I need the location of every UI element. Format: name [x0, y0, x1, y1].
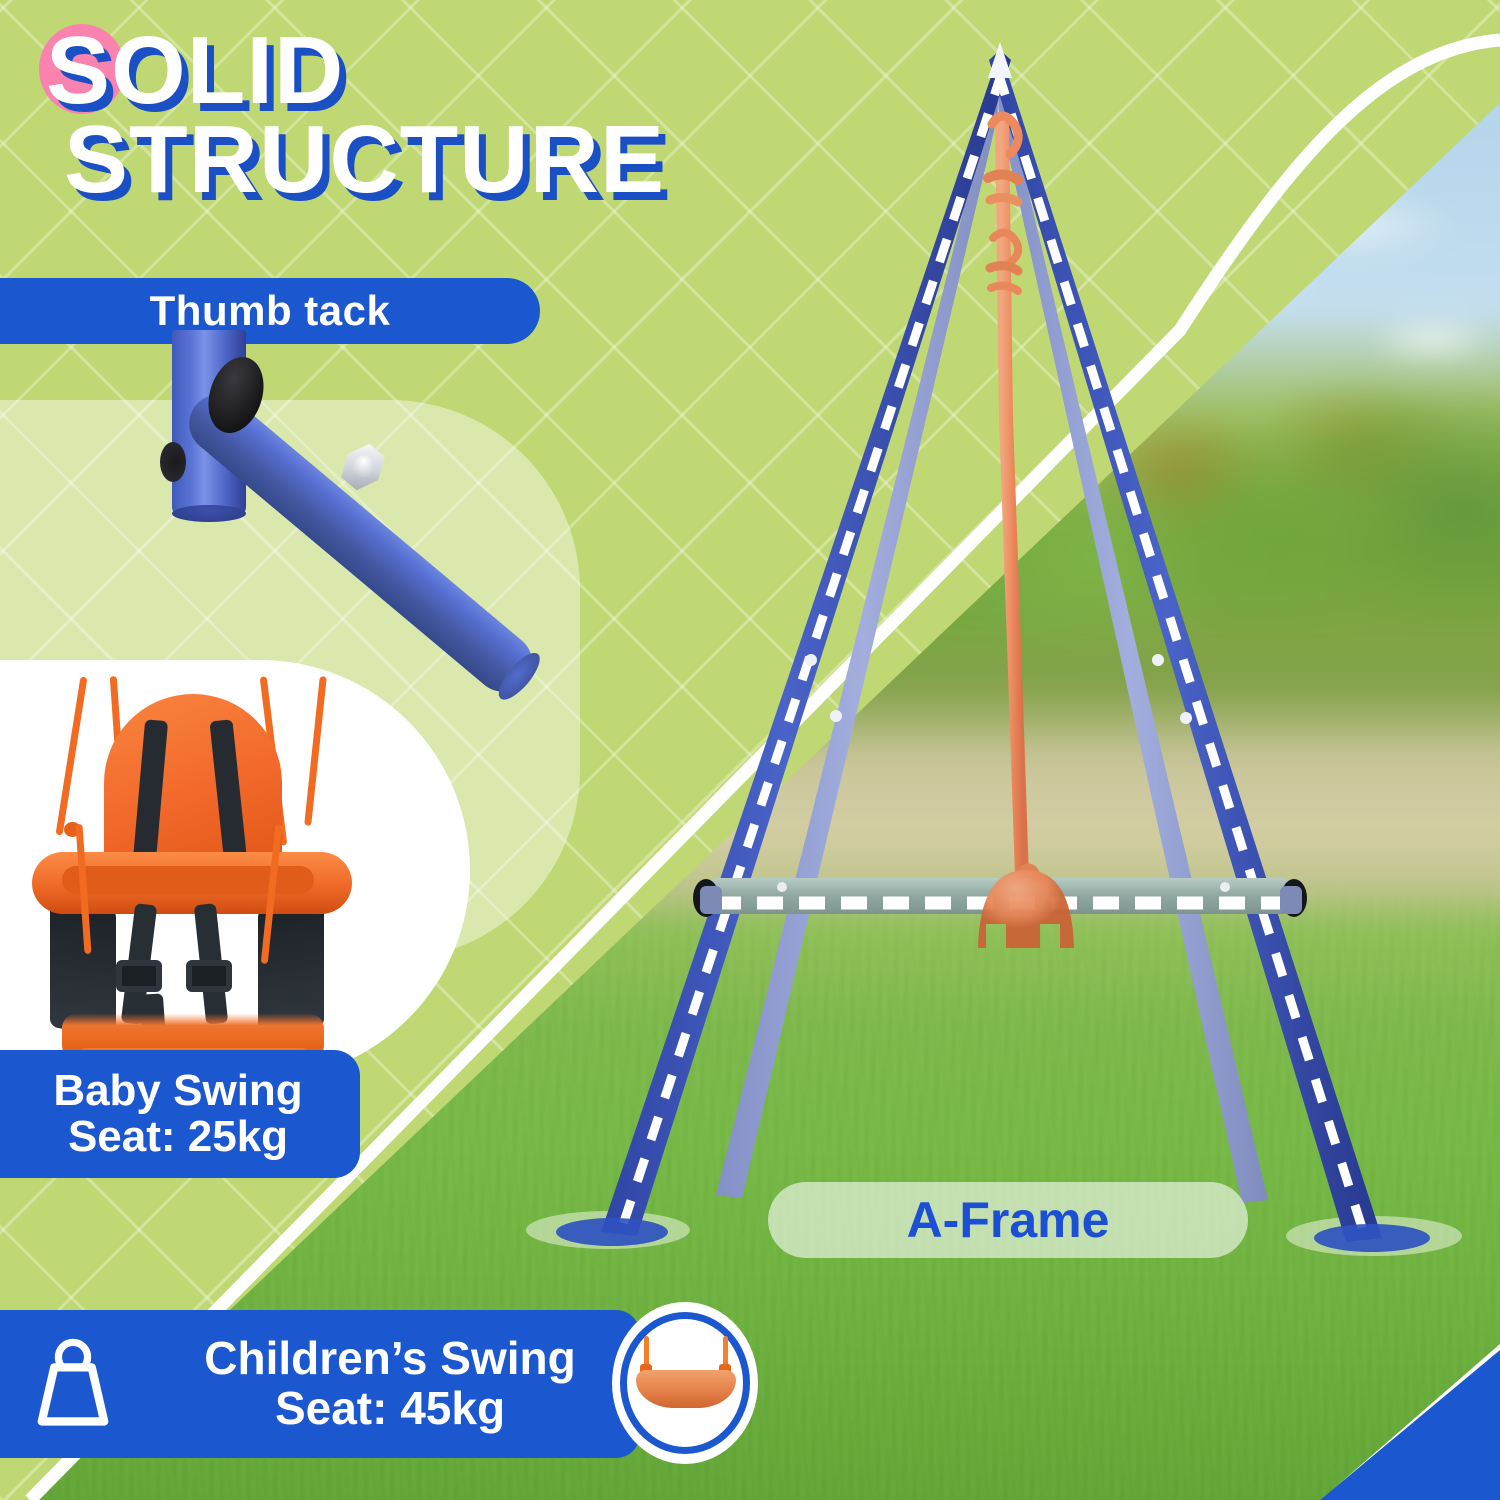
swing-rope [56, 676, 88, 835]
tube-socket-icon [160, 442, 186, 482]
harness-buckle [116, 960, 162, 992]
badge-swing-plank [636, 1370, 736, 1408]
a-frame-label: A-Frame [768, 1182, 1248, 1258]
a-frame-label-text: A-Frame [907, 1191, 1110, 1249]
swing-rope [304, 676, 327, 826]
baby-swing-seat-illustration [20, 674, 380, 1064]
children-swing-spec-label: Children’s Swing Seat: 45kg [0, 1310, 640, 1458]
children-swing-spec-line-2: Seat: 45kg [275, 1384, 505, 1434]
swing-seat-badge [612, 1302, 758, 1464]
children-swing-spec-text: Children’s Swing Seat: 45kg [140, 1334, 640, 1433]
thumb-tack-label-text: Thumb tack [150, 287, 391, 335]
harness-buckle [186, 960, 232, 992]
swing-seat-icon [634, 1336, 738, 1422]
infographic-canvas: SOLID STRUCTURE Thumb tack [0, 0, 1500, 1500]
baby-swing-photo-card [0, 660, 470, 1080]
page-title: SOLID STRUCTURE [46, 26, 806, 205]
weight-icon [20, 1332, 126, 1436]
baby-swing-spec-label: Baby Swing Seat: 25kg [0, 1050, 360, 1178]
title-line-2: STRUCTURE [46, 115, 806, 204]
hex-bolt-icon [334, 437, 393, 496]
children-swing-spec-line-1: Children’s Swing [204, 1334, 575, 1384]
baby-swing-spec-line-2: Seat: 25kg [68, 1114, 288, 1160]
baby-swing-spec-line-1: Baby Swing [53, 1068, 302, 1114]
